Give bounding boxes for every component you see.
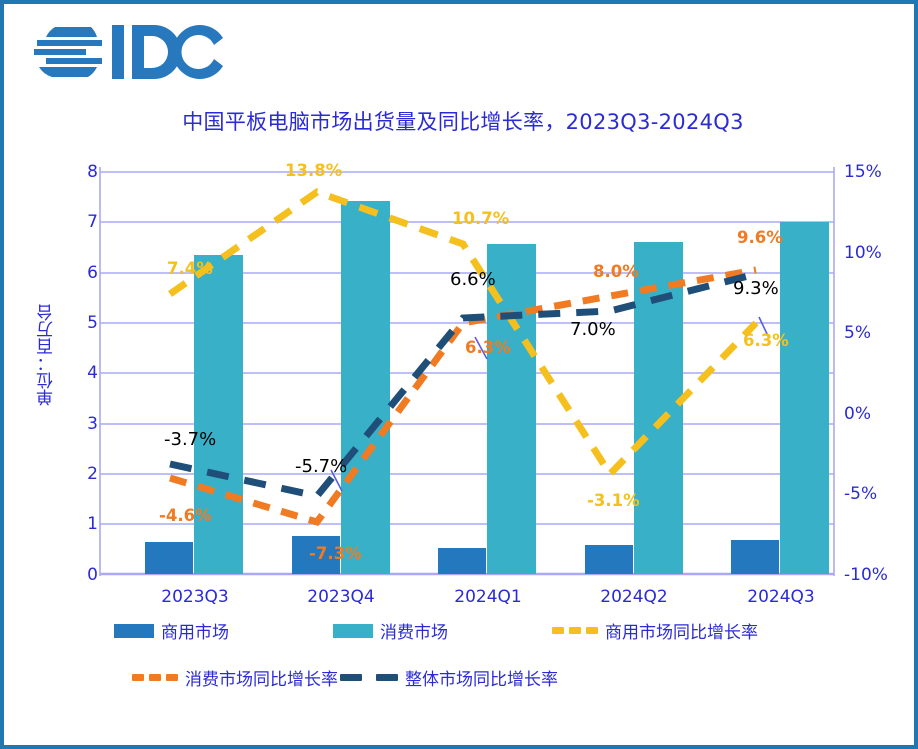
- legend-item-consumer-bar[interactable]: 消费市场: [333, 618, 448, 643]
- label-consumer-2024Q2: 8.0%: [593, 262, 639, 281]
- chart-page: 中国平板电脑市场出货量及同比增长率，2023Q3-2024Q3 单位：百万台 8…: [0, 0, 918, 749]
- legend-label-consumer-bar: 消费市场: [380, 618, 448, 643]
- x-tick-2024Q3: 2024Q3: [721, 587, 841, 607]
- label-overall-2024Q2: 7.0%: [570, 319, 616, 340]
- label-consumer-2023Q3: -4.6%: [159, 506, 212, 525]
- x-tick-2023Q4: 2023Q4: [281, 587, 401, 607]
- legend-item-commercial-growth[interactable]: 商用市场同比增长率: [552, 618, 758, 643]
- label-commercial-2024Q2: -3.1%: [587, 491, 640, 510]
- legend-label-overall-growth: 整体市场同比增长率: [405, 665, 558, 690]
- label-commercial-2024Q3: 6.3%: [743, 331, 789, 350]
- legend-item-consumer-growth[interactable]: 消费市场同比增长率: [132, 665, 338, 690]
- label-overall-2023Q3: -3.7%: [164, 429, 216, 450]
- label-commercial-2024Q1: 10.7%: [452, 209, 509, 228]
- x-tick-2024Q1: 2024Q1: [428, 587, 548, 607]
- label-commercial-2023Q3: 7.4%: [167, 259, 213, 278]
- legend-swatch-commercial-bar: [114, 624, 154, 638]
- label-consumer-2024Q1: 6.3%: [465, 338, 511, 357]
- legend-label-consumer-growth: 消费市场同比增长率: [185, 665, 338, 690]
- x-tick-2023Q3: 2023Q3: [135, 587, 255, 607]
- legend-item-commercial-bar[interactable]: 商用市场: [114, 618, 229, 643]
- legend-swatch-consumer-bar: [333, 624, 373, 638]
- legend-label-commercial-bar: 商用市场: [161, 618, 229, 643]
- legend-swatch-commercial-growth: [552, 627, 598, 634]
- label-overall-2023Q4: -5.7%: [295, 456, 347, 477]
- legend-item-overall-growth[interactable]: 整体市场同比增长率: [340, 665, 558, 690]
- legend-label-commercial-growth: 商用市场同比增长率: [605, 618, 758, 643]
- legend-swatch-consumer-growth: [132, 674, 178, 681]
- label-consumer-2023Q4: -7.3%: [309, 544, 362, 563]
- label-commercial-2023Q4: 13.8%: [285, 161, 342, 180]
- chart-legend: 商用市场 消费市场 商用市场同比增长率 消费市场同比增长率: [4, 618, 918, 690]
- bars-consumer: [194, 201, 829, 574]
- label-overall-2024Q1: 6.6%: [450, 269, 496, 290]
- label-overall-2024Q3: 9.3%: [733, 278, 779, 299]
- legend-swatch-overall-growth: [340, 674, 398, 681]
- label-consumer-2024Q3: 9.6%: [737, 228, 783, 247]
- x-tick-2024Q2: 2024Q2: [574, 587, 694, 607]
